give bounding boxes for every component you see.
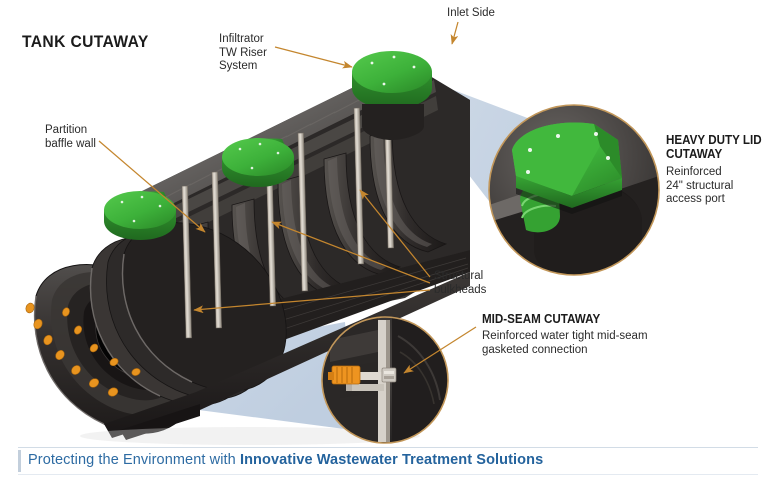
inset-heading-heavy-duty-lid: HEAVY DUTY LID CUTAWAY	[666, 133, 778, 161]
callout-infiltrator-tw-riser-system: Infiltrator TW Riser System	[219, 33, 267, 74]
inset-heavy-duty-lid	[489, 105, 659, 280]
callout-inlet-side: Inlet Side	[447, 7, 495, 21]
inset-heading-mid-seam: MID-SEAM CUTAWAY	[482, 312, 696, 326]
footer-tagline-lead: Protecting the Environment with	[28, 452, 240, 468]
riser-lid-inlet	[352, 51, 432, 140]
leader-infiltrator	[275, 47, 352, 67]
callout-structural-bulkheads: Structural bulkheads	[434, 270, 486, 297]
page-title: TANK CUTAWAY	[22, 32, 149, 52]
footer-divider-top	[18, 447, 758, 448]
tank-cutaway-illustration	[0, 0, 783, 492]
callout-partition-baffle-wall: Partition baffle wall	[45, 124, 96, 151]
leader-inlet-side	[452, 22, 458, 44]
inset-mid-seam	[322, 317, 448, 443]
inset-body-heavy-duty-lid: Reinforced 24" structural access port	[666, 166, 783, 207]
footer-accent-bar	[18, 450, 21, 472]
footer-tagline-emphasis: Innovative Wastewater Treatment Solution…	[240, 452, 543, 468]
riser-lid-middle	[222, 138, 294, 187]
inset-body-mid-seam: Reinforced water tight mid-seam gasketed…	[482, 330, 722, 357]
gasket-clip	[328, 366, 360, 384]
footer-divider-bottom	[18, 474, 758, 475]
footer-tagline: Protecting the Environment with Innovati…	[28, 452, 543, 468]
seam-bolt	[382, 368, 396, 382]
diagram-canvas: TANK CUTAWAY Infiltrator TW Riser System…	[0, 0, 783, 492]
